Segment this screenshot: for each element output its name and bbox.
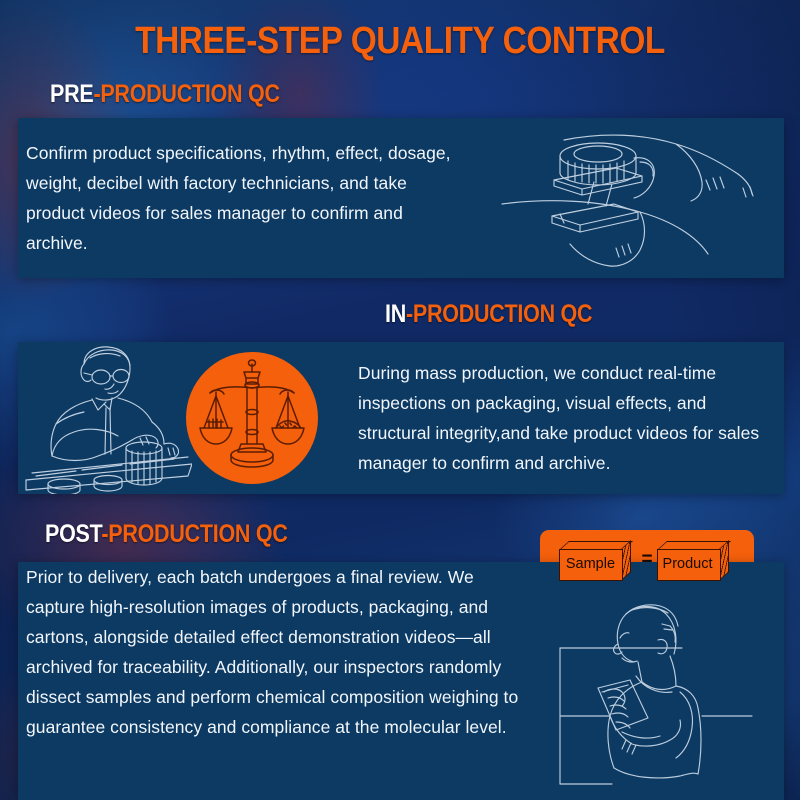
step-1-heading-suffix: -PRODUCTION QC: [93, 80, 279, 108]
product-cube-label: Product: [657, 549, 719, 579]
sample-cube-label: Sample: [559, 549, 621, 579]
step-1-body-text: Confirm product specifications, rhythm, …: [26, 138, 466, 258]
infographic-poster: THREE-STEP QUALITY CONTROL PRE-PRODUCTIO…: [0, 0, 800, 800]
step-3-heading: POST-PRODUCTION QC: [45, 522, 288, 547]
step-3-heading-prefix: POST: [45, 520, 101, 548]
inspector-with-tablet-icon: [552, 596, 762, 796]
balance-scale-icon: [186, 352, 318, 484]
step-2-heading-suffix: -PRODUCTION QC: [406, 300, 592, 328]
sample-cube: Sample: [559, 541, 637, 579]
equals-sign: =: [641, 549, 652, 571]
step-1-heading: PRE-PRODUCTION QC: [50, 82, 280, 107]
step-2-heading: IN-PRODUCTION QC: [385, 302, 592, 327]
step-3-heading-suffix: -PRODUCTION QC: [101, 520, 287, 548]
step-2-body-text: During mass production, we conduct real-…: [358, 358, 778, 478]
hand-holding-device-icon: [494, 128, 774, 270]
step-2-heading-prefix: IN: [385, 300, 406, 328]
step-1-heading-prefix: PRE: [50, 80, 93, 108]
product-cube: Product: [657, 541, 735, 579]
step-3-body-text: Prior to delivery, each batch undergoes …: [26, 562, 536, 742]
page-title: THREE-STEP QUALITY CONTROL: [48, 22, 752, 60]
worker-inspecting-products-icon: [22, 344, 192, 494]
balance-scale-badge: [186, 352, 318, 484]
